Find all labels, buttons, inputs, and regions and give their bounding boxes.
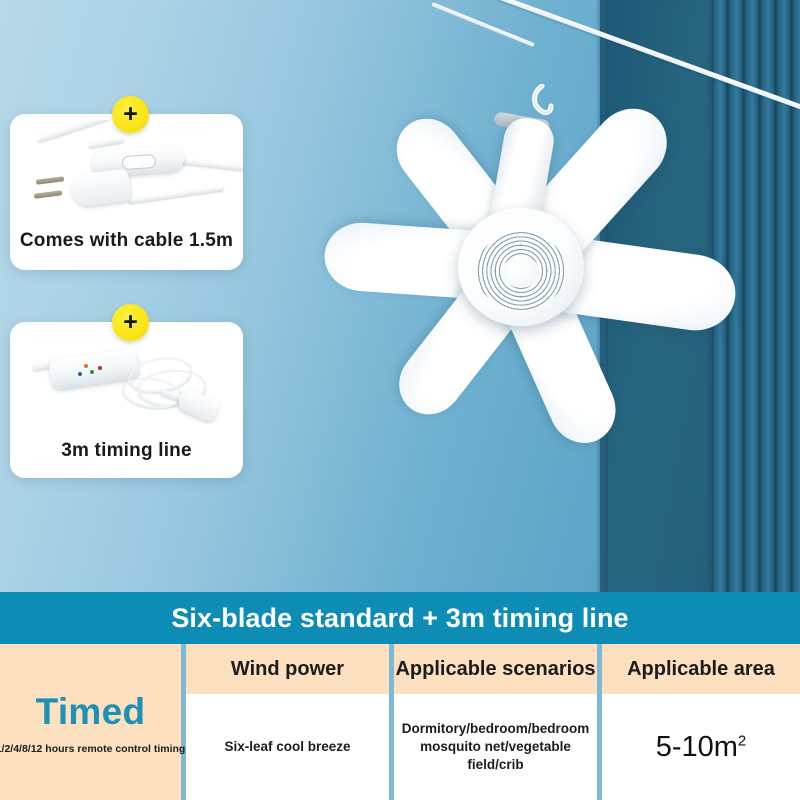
- feature-card-label: 3m timing line: [10, 440, 243, 462]
- cord-segment: [88, 137, 124, 148]
- feature-card-timing-line[interactable]: + 3m timing line: [10, 322, 243, 478]
- spec-column-timed: Timed 1/2/4/8/12 hours remote control ti…: [0, 644, 181, 800]
- cord-segment: [178, 158, 243, 170]
- spec-header: Applicable area: [602, 644, 800, 694]
- product-marketing-image: + Comes with cable 1.5m +: [0, 0, 800, 800]
- spec-header: Wind power: [186, 644, 389, 694]
- spec-cell: 5-10m2: [602, 694, 800, 800]
- timer-indicator: [90, 370, 94, 374]
- spec-cell: Six-leaf cool breeze: [186, 694, 389, 800]
- product-photo: + Comes with cable 1.5m +: [0, 0, 800, 592]
- spec-cell-text: Six-leaf cool breeze: [224, 738, 350, 756]
- timer-indicator: [98, 366, 102, 370]
- timing-line-cable-image: [10, 328, 243, 424]
- plug-pin: [34, 190, 62, 198]
- spec-cell-area: 5-10m2: [656, 731, 747, 764]
- cord-segment: [128, 185, 224, 203]
- spec-column-wind-power: Wind power Six-leaf cool breeze: [186, 644, 389, 800]
- two-pin-plug-body: [70, 169, 131, 208]
- plug-pin: [36, 176, 64, 184]
- inline-switch-rocker: [122, 154, 157, 170]
- spec-cell: Dormitory/bedroom/bedroom mosquito net/v…: [394, 694, 597, 800]
- spec-column-applicable-scenarios: Applicable scenarios Dormitory/bedroom/b…: [394, 644, 597, 800]
- spec-table: Timed 1/2/4/8/12 hours remote control ti…: [0, 644, 800, 800]
- timed-subtitle: 1/2/4/8/12 hours remote control timing: [0, 743, 185, 755]
- feature-card-label: Comes with cable 1.5m: [10, 230, 243, 252]
- spec-cell-area-value: 5-10m: [656, 731, 738, 763]
- spec-cell-area-exponent: 2: [738, 732, 746, 749]
- spec-cell-text: Dormitory/bedroom/bedroom mosquito net/v…: [402, 720, 590, 775]
- two-pin-plug-body: [175, 387, 220, 422]
- spec-column-applicable-area: Applicable area 5-10m2: [602, 644, 800, 800]
- hub-center-cap: [502, 256, 540, 288]
- timed-title: Timed: [36, 691, 146, 733]
- feature-card-cable[interactable]: + Comes with cable 1.5m: [10, 114, 243, 270]
- timer-indicator: [84, 364, 88, 368]
- power-cable-with-switch-image: [10, 120, 243, 216]
- cord-segment: [37, 120, 109, 142]
- headline-text: Six-blade standard + 3m timing line: [171, 603, 628, 634]
- spec-header: Applicable scenarios: [394, 644, 597, 694]
- timer-indicator: [78, 372, 82, 376]
- headline-banner: Six-blade standard + 3m timing line: [0, 592, 800, 644]
